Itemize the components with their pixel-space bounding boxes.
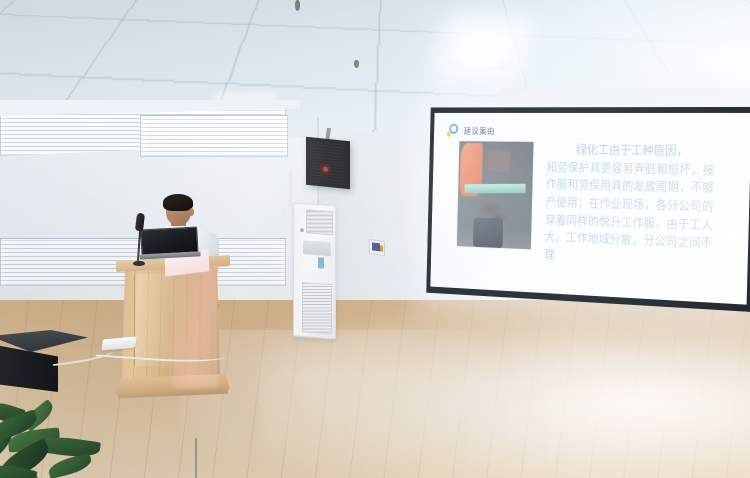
- circle-bullet-icon: [447, 123, 460, 138]
- podium-light-sheen: [172, 266, 218, 388]
- slide-photo-worker-jacket: [457, 141, 534, 249]
- sprinkler-head-icon: [295, 0, 300, 11]
- ac-brand-logo: [300, 228, 304, 232]
- speaker-grille: [310, 141, 346, 185]
- window-blinds-upper-right: [140, 115, 288, 157]
- ac-upper-louvers: [306, 209, 333, 235]
- conference-room-scene: 建议案由 绿化工由于工种原因， 和劳保护具更容易弄脏和损坏，按 作服和劳保用具的…: [0, 0, 750, 478]
- slide-title: 建议案由: [464, 124, 496, 136]
- presenter-hair: [163, 194, 193, 211]
- ac-control-panel[interactable]: [303, 240, 331, 256]
- potted-plant: [0, 400, 136, 478]
- sprinkler-head-icon: [354, 60, 359, 68]
- presenter-ear: [189, 208, 194, 216]
- power-led-icon: [323, 166, 328, 172]
- projection-screen[interactable]: 建议案由 绿化工由于工种原因， 和劳保护具更容易弄脏和损坏，按 作服和劳保用具的…: [426, 107, 750, 312]
- floor-standing-air-conditioner[interactable]: [293, 202, 336, 339]
- ceiling-led-panel-light: [447, 30, 519, 70]
- wall-control-panel[interactable]: [369, 239, 385, 256]
- slide-body-text: 绿化工由于工种原因， 和劳保护具更容易弄脏和损坏，按 作服和劳保用具的发放周期，…: [544, 141, 749, 273]
- ac-intake-grille: [302, 282, 332, 334]
- plant-leaf: [47, 453, 94, 478]
- gooseneck-microphone[interactable]: [131, 213, 149, 265]
- projected-slide[interactable]: 建议案由 绿化工由于工种原因， 和劳保护具更容易弄脏和损坏，按 作服和劳保用具的…: [430, 113, 750, 305]
- wall-mounted-speaker: [306, 137, 350, 190]
- speaker-box-front: [0, 344, 58, 392]
- slide-title-row: 建议案由: [447, 123, 495, 138]
- thermostat-display: [372, 242, 380, 251]
- microphone-base: [133, 261, 145, 266]
- thermostat-button[interactable]: [380, 245, 383, 251]
- ac-display-badge: [318, 257, 324, 268]
- microphone-stem: [137, 228, 142, 264]
- wooden-podium: [120, 258, 226, 398]
